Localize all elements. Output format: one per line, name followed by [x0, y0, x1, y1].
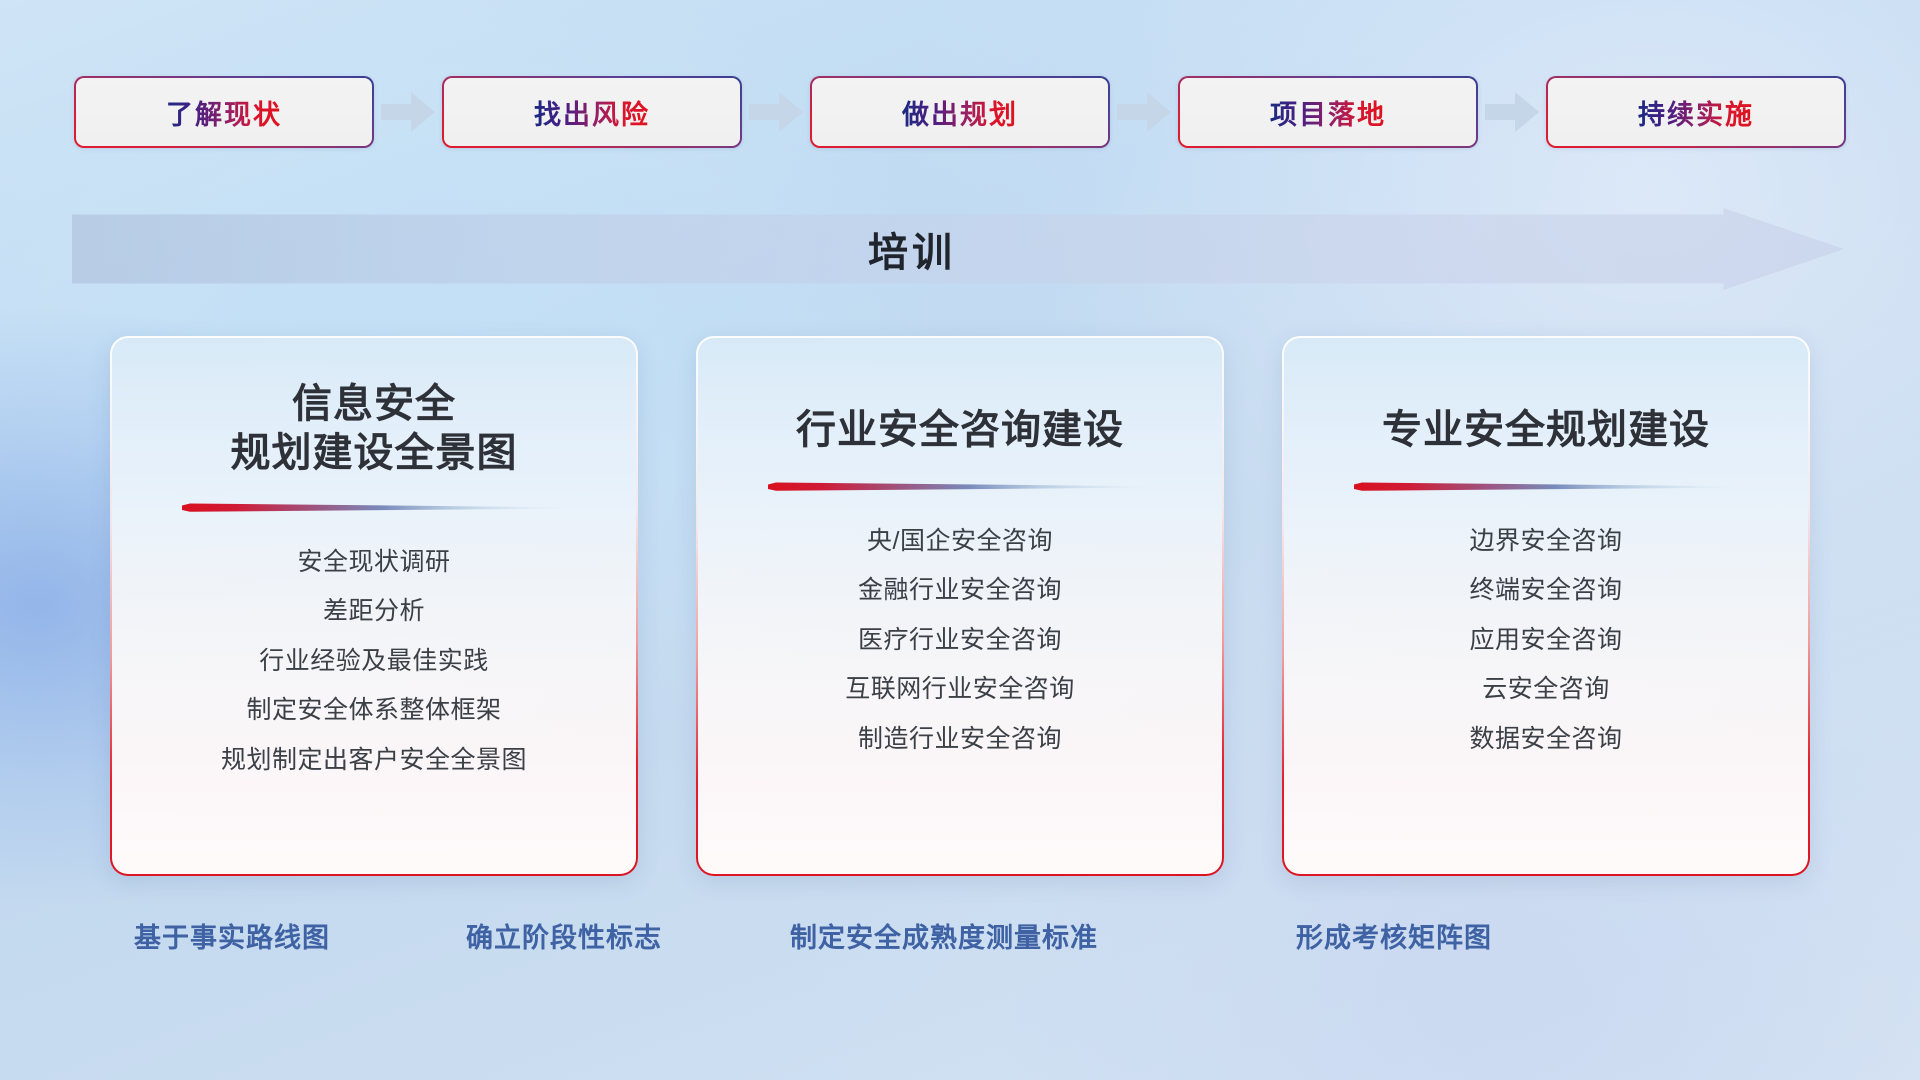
step-label-0: 了解现状 — [166, 93, 282, 132]
arrow-right-icon-1 — [742, 76, 810, 148]
list-item: 差距分析 — [323, 591, 425, 632]
panel-title-1: 行业安全咨询建设 — [698, 406, 1222, 455]
arrow-right-icon-0 — [374, 76, 442, 148]
footnote-row: 基于事实路线图 确立阶段性标志 制定安全成熟度测量标准 形成考核矩阵图 — [0, 916, 1920, 966]
training-banner: 培训 — [72, 208, 1844, 290]
panel-list-0: 安全现状调研 差距分析 行业经验及最佳实践 制定安全体系整体框架 规划制定出客户… — [112, 542, 636, 781]
list-item: 应用安全咨询 — [1469, 620, 1622, 661]
step-label-4: 持续实施 — [1638, 93, 1754, 132]
list-item: 制定安全体系整体框架 — [246, 690, 501, 731]
panel-card-0[interactable]: 信息安全 规划建设全景图 — [110, 336, 638, 876]
footnote-label-3: 形成考核矩阵图 — [1296, 916, 1492, 955]
panel-title-2: 专业安全规划建设 — [1284, 406, 1808, 455]
step-box-4[interactable]: 持续实施 — [1546, 76, 1846, 148]
footnote-label-0: 基于事实路线图 — [134, 916, 330, 955]
tapered-rule-icon-0 — [180, 502, 568, 514]
step-box-2[interactable]: 做出规划 — [810, 76, 1110, 148]
tapered-rule-icon-1 — [766, 481, 1154, 493]
step-box-1[interactable]: 找出风险 — [442, 76, 742, 148]
list-item: 规划制定出客户安全全景图 — [221, 740, 527, 781]
list-item: 云安全咨询 — [1482, 669, 1610, 710]
footnote-label-1: 确立阶段性标志 — [466, 916, 662, 955]
list-item: 央/国企安全咨询 — [867, 521, 1053, 562]
list-item: 制造行业安全咨询 — [858, 719, 1062, 760]
panel-title-0: 信息安全 规划建设全景图 — [112, 380, 636, 478]
step-label-1: 找出风险 — [534, 93, 650, 132]
step-box-0[interactable]: 了解现状 — [74, 76, 374, 148]
tapered-rule-icon-2 — [1352, 481, 1740, 493]
list-item: 终端安全咨询 — [1469, 570, 1622, 611]
list-item: 安全现状调研 — [297, 542, 450, 583]
panel-card-2[interactable]: 专业安全规划建设 — [1282, 336, 1810, 876]
process-step-row: 了解现状 找出风险 做出规划 项目落地 — [0, 72, 1920, 152]
list-item: 互联网行业安全咨询 — [845, 669, 1075, 710]
arrow-right-icon-2 — [1110, 76, 1178, 148]
list-item: 医疗行业安全咨询 — [858, 620, 1062, 661]
step-label-2: 做出规划 — [902, 93, 1018, 132]
step-box-3[interactable]: 项目落地 — [1178, 76, 1478, 148]
list-item: 金融行业安全咨询 — [858, 570, 1062, 611]
step-label-3: 项目落地 — [1270, 93, 1386, 132]
slide-canvas: 了解现状 找出风险 做出规划 项目落地 — [0, 0, 1920, 1080]
panel-list-1: 央/国企安全咨询 金融行业安全咨询 医疗行业安全咨询 互联网行业安全咨询 制造行… — [698, 521, 1222, 760]
panel-list-2: 边界安全咨询 终端安全咨询 应用安全咨询 云安全咨询 数据安全咨询 — [1284, 521, 1808, 760]
list-item: 数据安全咨询 — [1469, 719, 1622, 760]
banner-title: 培训 — [72, 208, 1752, 290]
list-item: 行业经验及最佳实践 — [259, 641, 489, 682]
panel-card-inner-0: 信息安全 规划建设全景图 — [112, 338, 636, 874]
panel-card-inner-2: 专业安全规划建设 — [1284, 338, 1808, 874]
footnote-label-2: 制定安全成熟度测量标准 — [790, 916, 1098, 955]
panel-card-1[interactable]: 行业安全咨询建设 — [696, 336, 1224, 876]
panel-row: 信息安全 规划建设全景图 — [0, 336, 1920, 876]
list-item: 边界安全咨询 — [1469, 521, 1622, 562]
arrow-right-icon-3 — [1478, 76, 1546, 148]
panel-card-inner-1: 行业安全咨询建设 — [698, 338, 1222, 874]
